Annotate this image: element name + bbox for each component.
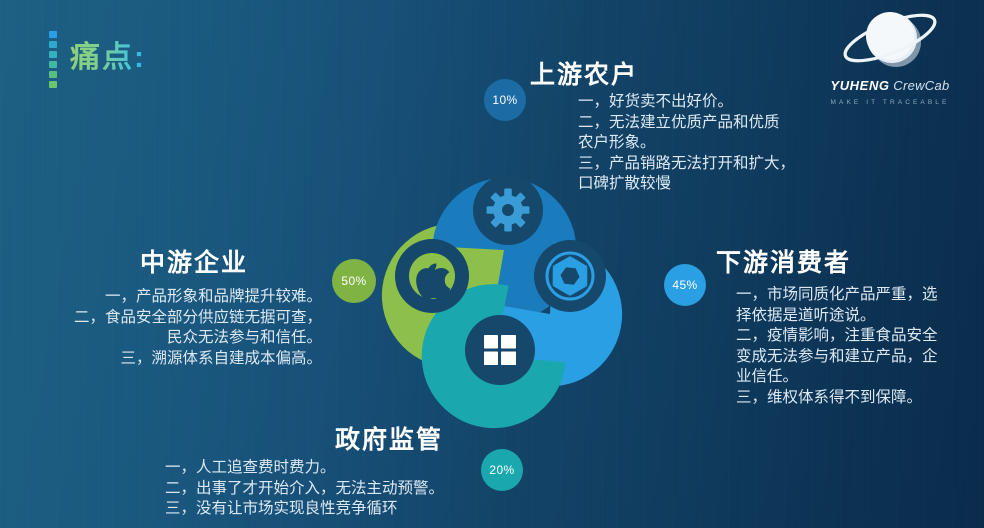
heading-dot-3 xyxy=(49,51,57,58)
camera-aperture-icon xyxy=(534,240,606,312)
gear-icon xyxy=(473,175,543,245)
section-title-government: 政府监管 xyxy=(335,420,443,456)
body-line: 变成无法参与和建立产品，企 xyxy=(736,347,968,368)
section-body-midstream: 一，产品形象和品牌提升较难。二，食品安全部分供应链无据可查，民众无法参与和信任。… xyxy=(22,287,322,369)
brand-name: YUHENG CrewCab xyxy=(812,78,968,93)
badge-upstream: 10% xyxy=(484,79,526,121)
badge-midstream: 50% xyxy=(332,259,376,303)
body-line: 二，出事了才开始介入，无法主动预警。 xyxy=(165,479,565,500)
slide-canvas: 痛点: xyxy=(0,0,984,528)
section-body-government: 一，人工追查费时费力。二，出事了才开始介入，无法主动预警。三，没有让市场实现良性… xyxy=(165,458,565,520)
body-line: 一，好货卖不出好价。 xyxy=(578,92,908,113)
section-title-midstream: 中游企业 xyxy=(140,243,248,279)
body-line: 二，无法建立优质产品和优质 xyxy=(578,113,908,134)
body-line: 三，维权体系得不到保障。 xyxy=(736,388,968,409)
section-body-downstream: 一，市场同质化产品严重，选择依据是道听途说。二，疫情影响，注重食品安全变成无法参… xyxy=(736,285,968,409)
body-line: 三，没有让市场实现良性竞争循环 xyxy=(165,499,565,520)
brand-name-bold: YUHENG xyxy=(830,78,889,93)
heading-dot-bar xyxy=(49,31,57,88)
heading-dot-6 xyxy=(49,81,57,88)
body-line: 择依据是道听途说。 xyxy=(736,306,968,327)
brand-logo: YUHENG CrewCab MAKE IT TRACEABLE xyxy=(812,4,968,106)
body-line: 农户形象。 xyxy=(578,133,908,154)
body-line: 二，食品安全部分供应链无据可查， xyxy=(22,308,322,329)
body-line: 一，产品形象和品牌提升较难。 xyxy=(22,287,322,308)
heading-dot-1 xyxy=(49,31,57,38)
body-line: 一，人工追查费时费力。 xyxy=(165,458,565,479)
brand-name-light: CrewCab xyxy=(893,78,949,93)
heading-dot-2 xyxy=(49,41,57,48)
heading-dot-5 xyxy=(49,71,57,78)
badge-downstream: 45% xyxy=(664,264,706,306)
body-line: 口碑扩散较慢 xyxy=(578,174,908,195)
body-line: 二，疫情影响，注重食品安全 xyxy=(736,326,968,347)
saturn-planet-icon xyxy=(812,4,968,76)
apple-icon xyxy=(395,239,469,313)
page-title: 痛点: xyxy=(70,32,146,76)
section-title-upstream: 上游农户 xyxy=(530,55,638,91)
section-title-downstream: 下游消费者 xyxy=(716,243,851,279)
body-line: 民众无法参与和信任。 xyxy=(22,328,322,349)
heading-dot-4 xyxy=(49,61,57,68)
body-line: 三，溯源体系自建成本偏高。 xyxy=(22,349,322,370)
windows-icon xyxy=(465,315,535,385)
section-body-upstream: 一，好货卖不出好价。二，无法建立优质产品和优质农户形象。三，产品销路无法打开和扩… xyxy=(578,92,908,195)
body-line: 业信任。 xyxy=(736,367,968,388)
body-line: 三，产品销路无法打开和扩大， xyxy=(578,154,908,175)
body-line: 一，市场同质化产品严重，选 xyxy=(736,285,968,306)
